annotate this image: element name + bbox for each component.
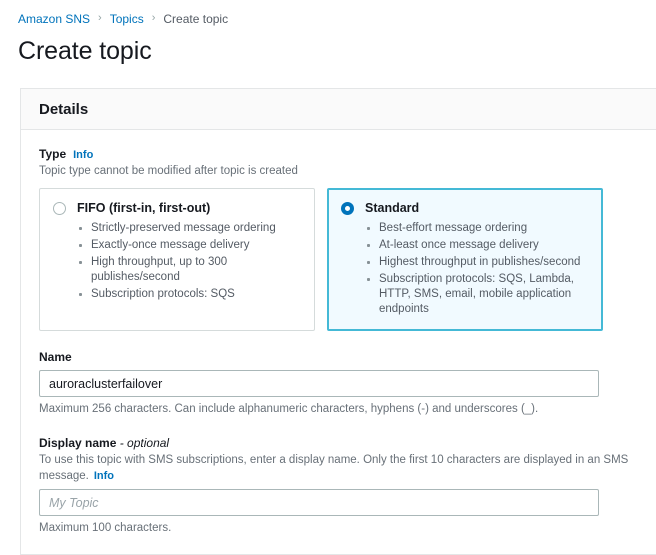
type-option-standard-head: Standard [341,201,590,216]
breadcrumb-item-topics[interactable]: Topics [110,12,144,26]
type-option-fifo-head: FIFO (first-in, first-out) [53,201,302,216]
display-name-hint: Maximum 100 characters. [39,520,638,536]
breadcrumb-item-amazon-sns[interactable]: Amazon SNS [18,12,90,26]
list-item: High throughput, up to 300 publishes/sec… [77,254,302,286]
name-hint: Maximum 256 characters. Can include alph… [39,401,638,417]
type-label-row: TypeInfo [39,146,638,162]
radio-unchecked-icon-fifo[interactable] [53,202,66,215]
list-item: Highest throughput in publishes/second [365,254,590,271]
details-panel-body: TypeInfo Topic type cannot be modified a… [21,130,656,554]
list-item: Strictly-preserved message ordering [77,220,302,237]
breadcrumb-separator-icon: › [98,13,102,24]
display-name-description-row: To use this topic with SMS subscriptions… [39,452,638,484]
display-name-description: To use this topic with SMS subscriptions… [39,454,628,482]
display-name-label-text: Display name [39,436,116,450]
list-item: Exactly-once message delivery [77,237,302,254]
list-item: Subscription protocols: SQS, Lambda, HTT… [365,271,590,318]
type-option-fifo-title: FIFO (first-in, first-out) [77,201,210,216]
list-item: Best-effort message ordering [365,220,590,237]
type-options: FIFO (first-in, first-out) Strictly-pres… [39,188,638,331]
name-input[interactable] [39,370,599,397]
breadcrumb: Amazon SNS › Topics › Create topic [0,0,656,26]
list-item: At-least once message delivery [365,237,590,254]
details-panel: Details TypeInfo Topic type cannot be mo… [20,88,656,555]
type-option-fifo[interactable]: FIFO (first-in, first-out) Strictly-pres… [39,188,315,331]
type-label: Type [39,147,66,161]
page-title: Create topic [18,36,656,66]
breadcrumb-item-create-topic: Create topic [163,12,228,26]
display-name-optional-suffix: - optional [120,436,169,450]
name-field: Name Maximum 256 characters. Can include… [39,349,638,417]
type-description: Topic type cannot be modified after topi… [39,163,638,179]
display-name-field: Display name - optional To use this topi… [39,435,638,536]
type-option-fifo-bullets: Strictly-preserved message ordering Exac… [53,220,302,303]
details-panel-title: Details [39,101,638,118]
name-label: Name [39,349,638,365]
display-name-label: Display name - optional [39,435,638,451]
type-option-standard-title: Standard [365,201,419,216]
list-item: Subscription protocols: SQS [77,286,302,303]
type-option-standard-bullets: Best-effort message ordering At-least on… [341,220,590,318]
radio-checked-icon-standard[interactable] [341,202,354,215]
breadcrumb-separator-icon: › [152,13,156,24]
type-field: TypeInfo Topic type cannot be modified a… [39,146,638,331]
type-info-link[interactable]: Info [73,149,93,161]
type-option-standard[interactable]: Standard Best-effort message ordering At… [327,188,603,331]
display-name-input[interactable] [39,489,599,516]
display-name-info-link[interactable]: Info [94,470,114,482]
details-panel-header: Details [21,89,656,130]
